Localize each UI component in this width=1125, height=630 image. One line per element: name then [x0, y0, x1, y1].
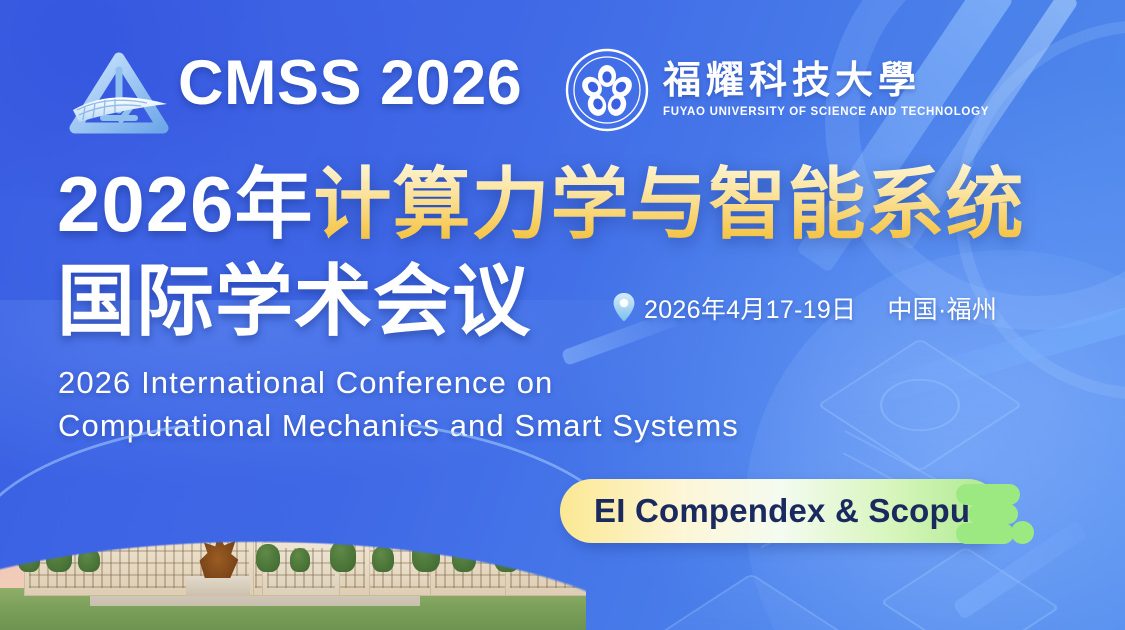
subtitle-en-line1: 2026 International Conference on: [58, 362, 739, 405]
photo-tree-row: [0, 574, 586, 602]
circuit-chip-icon-2: [880, 547, 1060, 630]
campus-photo-image: [0, 425, 586, 630]
university-logo-block: 福耀科技大學 FUYAO UNIVERSITY OF SCIENCE AND T…: [565, 48, 989, 132]
cmss-acronym-title: CMSS 2026: [178, 52, 522, 115]
title-topic: 计算力学与智能系统: [314, 160, 1025, 248]
map-pin-icon: [613, 293, 635, 321]
cmss-triangle-logo-icon: [63, 48, 175, 140]
photo-main-roof: [12, 476, 266, 492]
conference-title-cn-line1: 2026年计算力学与智能系统: [57, 165, 1025, 243]
circuit-chip-icon-3: [657, 573, 863, 630]
conference-date: 2026年4月17-19日: [644, 290, 856, 326]
badge-label: EI Compendex & Scopus: [594, 492, 989, 530]
university-name-cn: 福耀科技大學: [663, 62, 989, 102]
university-name-en: FUYAO UNIVERSITY OF SCIENCE AND TECHNOLO…: [663, 106, 989, 118]
conference-location: 中国·福州: [887, 290, 997, 326]
conference-meta-row: 2026年4月17-19日 中国·福州: [613, 290, 997, 326]
fuyao-university-seal-icon: [565, 48, 649, 132]
conference-title-cn-line2: 国际学术会议: [57, 262, 531, 340]
green-e-mark-icon: [956, 479, 1032, 551]
circuit-chip-ring-icon: [863, 368, 976, 441]
title-year: 2026年: [57, 160, 314, 248]
circuit-chip-icon-1: [817, 338, 1023, 472]
banner-header: CMSS 2026: [0, 0, 1125, 150]
campus-photo: [0, 425, 586, 630]
indexing-badge: EI Compendex & Scopus: [560, 479, 1030, 551]
conference-banner: CMSS 2026: [0, 0, 1125, 630]
badge-pill: EI Compendex & Scopus: [560, 479, 1000, 543]
